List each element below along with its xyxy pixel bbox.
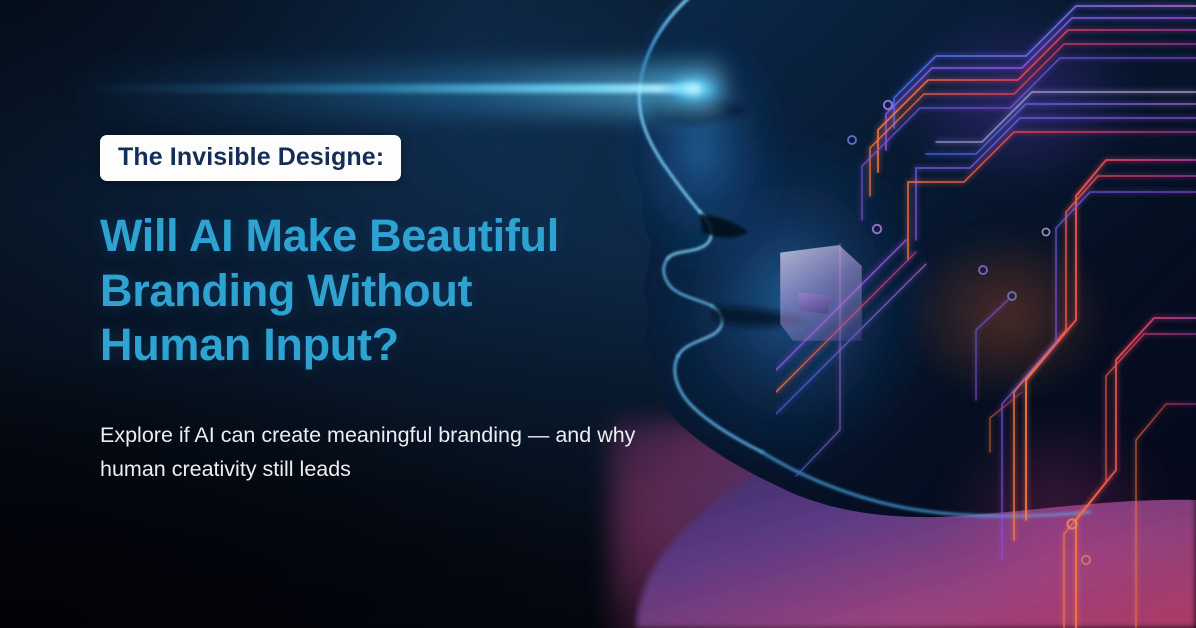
- eyebrow-badge: The Invisible Designe:: [100, 135, 401, 181]
- circuit-board-panel: [776, 0, 1196, 628]
- hero-banner: The Invisible Designe: Will AI Make Beau…: [0, 0, 1196, 628]
- circuit-via-pads: [848, 101, 1090, 564]
- page-title: Will AI Make Beautiful Branding Without …: [100, 209, 630, 373]
- glowing-eye: [658, 70, 728, 108]
- hero-subtitle: Explore if AI can create meaningful bran…: [100, 418, 640, 487]
- hero-text-block: The Invisible Designe: Will AI Make Beau…: [100, 0, 660, 628]
- processor-chip-panel: [780, 245, 862, 341]
